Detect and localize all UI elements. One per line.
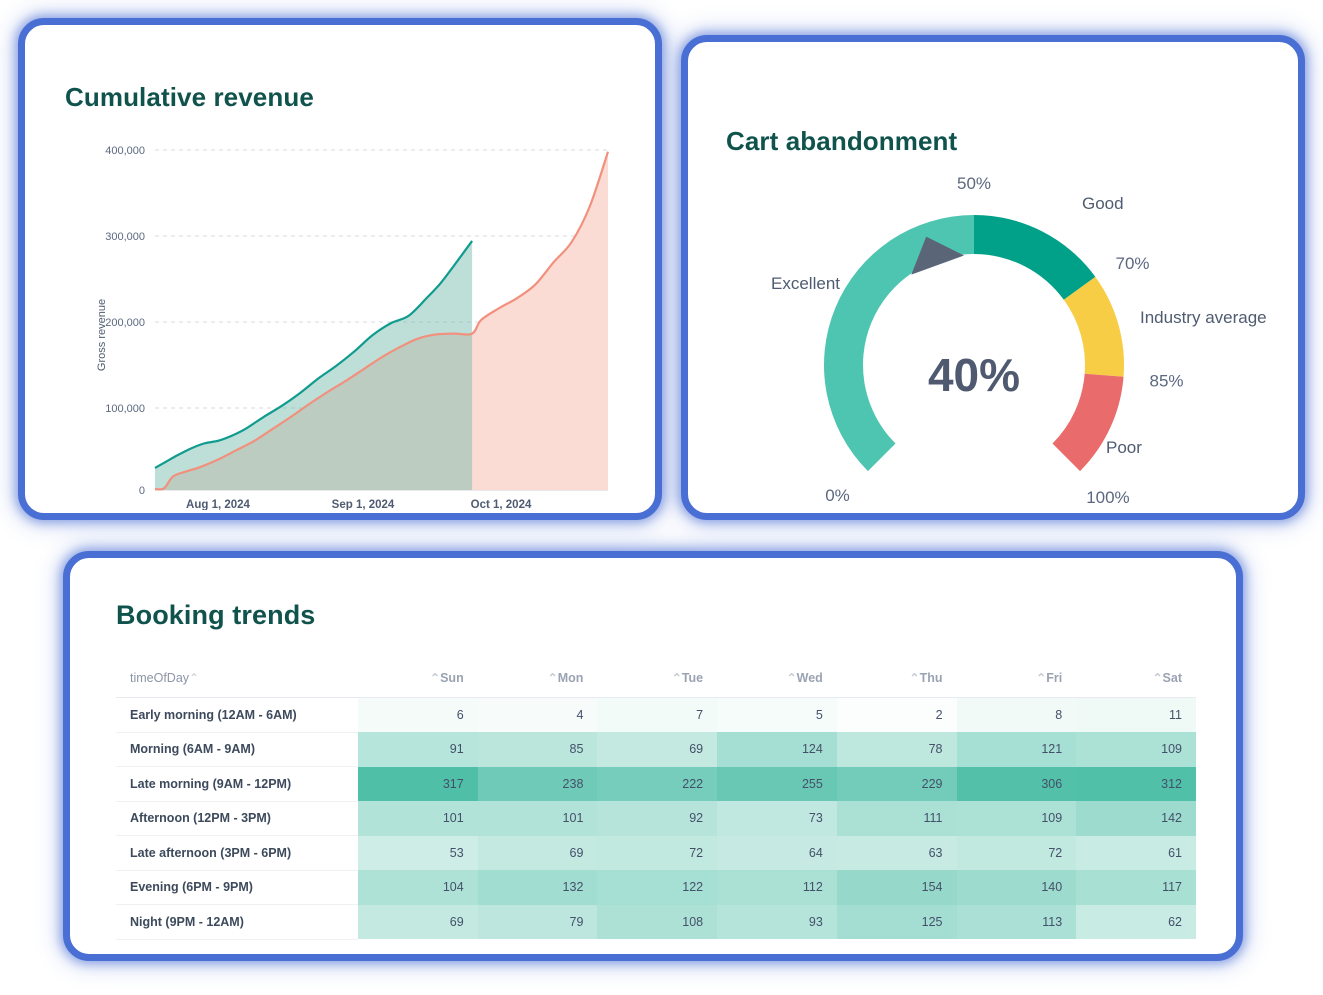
gauge-tick-70: 70% <box>1116 254 1150 273</box>
table-cell-tue: 108 <box>597 905 717 940</box>
table-header-thu-label: Thu <box>920 671 943 685</box>
gauge-zone-label-industry: Industry average <box>1140 308 1267 327</box>
table-header-timeofday-label: timeOfDay <box>130 671 189 685</box>
table-cell-fri: 109 <box>957 801 1077 836</box>
sort-ascending-icon: ⌃ <box>1152 671 1162 685</box>
y-tick: 0 <box>139 485 145 497</box>
table-cell-sat: 61 <box>1076 836 1196 871</box>
table-cell-thu: 2 <box>837 698 957 733</box>
table-cell-sun: 101 <box>358 801 478 836</box>
sort-ascending-icon: ⌃ <box>910 671 920 685</box>
table-cell-mon: 238 <box>478 767 598 802</box>
table-cell-wed: 112 <box>717 870 837 905</box>
table-cell-thu: 154 <box>837 870 957 905</box>
booking-trends-card: Booking trends timeOfDay ⌃⌃ Sun⌃ Mon⌃ Tu… <box>63 551 1243 961</box>
table-header-tue-label: Tue <box>682 671 703 685</box>
table-cell-sat: 62 <box>1076 905 1196 940</box>
x-tick: Sep 1, 2024 <box>332 499 395 510</box>
table-cell-fri: 72 <box>957 836 1077 871</box>
cumulative-revenue-card: Cumulative revenue 400,000 300,000 200,0… <box>18 18 662 520</box>
table-cell-tue: 92 <box>597 801 717 836</box>
table-cell-mon: 85 <box>478 732 598 767</box>
table-header-wed[interactable]: ⌃ Wed <box>717 651 837 698</box>
table-row: Morning (6AM - 9AM)91856912478121109 <box>116 732 1196 767</box>
table-header-sat-label: Sat <box>1163 671 1182 685</box>
sort-ascending-icon: ⌃ <box>430 671 440 685</box>
table-header-thu[interactable]: ⌃ Thu <box>837 651 957 698</box>
table-cell-thu: 111 <box>837 801 957 836</box>
table-cell-sun: 6 <box>358 698 478 733</box>
dashboard-stage: Cumulative revenue 400,000 300,000 200,0… <box>0 0 1323 995</box>
y-tick: 200,000 <box>105 317 145 329</box>
y-tick: 400,000 <box>105 145 145 157</box>
sort-ascending-icon: ⌃ <box>787 671 797 685</box>
table-header-mon[interactable]: ⌃ Mon <box>478 651 598 698</box>
y-axis-title: Gross revenue <box>96 299 108 371</box>
table-cell-tue: 222 <box>597 767 717 802</box>
table-cell-sat: 312 <box>1076 767 1196 802</box>
table-cell-fri: 113 <box>957 905 1077 940</box>
table-cell-sun: 69 <box>358 905 478 940</box>
table-body: Early morning (12AM - 6AM)64752811Mornin… <box>116 698 1196 940</box>
table-row: Night (9PM - 12AM)69791089312511362 <box>116 905 1196 940</box>
table-cell-thu: 125 <box>837 905 957 940</box>
table-row-label: Early morning (12AM - 6AM) <box>116 698 358 733</box>
table-cell-sat: 142 <box>1076 801 1196 836</box>
gauge-arc-zones <box>824 215 1124 471</box>
table-cell-sat: 109 <box>1076 732 1196 767</box>
table-cell-tue: 7 <box>597 698 717 733</box>
y-tick: 300,000 <box>105 231 145 243</box>
table-header-mon-label: Mon <box>558 671 584 685</box>
table-cell-fri: 121 <box>957 732 1077 767</box>
table-row-label: Night (9PM - 12AM) <box>116 905 358 940</box>
table-cell-tue: 72 <box>597 836 717 871</box>
table-header-sun-label: Sun <box>440 671 464 685</box>
sort-ascending-icon: ⌃ <box>189 671 199 685</box>
table-row-label: Afternoon (12PM - 3PM) <box>116 801 358 836</box>
table-header-timeofday[interactable]: timeOfDay ⌃ <box>116 651 358 698</box>
table-cell-wed: 255 <box>717 767 837 802</box>
x-tick: Oct 1, 2024 <box>471 499 532 510</box>
table-row: Evening (6PM - 9PM)104132122112154140117 <box>116 870 1196 905</box>
table-header-fri-label: Fri <box>1046 671 1062 685</box>
sort-ascending-icon: ⌃ <box>548 671 558 685</box>
table-cell-wed: 124 <box>717 732 837 767</box>
gauge-zone-label-excellent: Excellent <box>771 274 840 293</box>
table-cell-tue: 69 <box>597 732 717 767</box>
table-header-row: timeOfDay ⌃⌃ Sun⌃ Mon⌃ Tue⌃ Wed⌃ Thu⌃ Fr… <box>116 651 1196 698</box>
gauge-tick-0: 0% <box>825 486 850 505</box>
gauge-zone-good <box>974 215 1095 300</box>
table-row: Early morning (12AM - 6AM)64752811 <box>116 698 1196 733</box>
table-cell-sat: 11 <box>1076 698 1196 733</box>
table-cell-fri: 306 <box>957 767 1077 802</box>
sort-ascending-icon: ⌃ <box>672 671 682 685</box>
y-tick: 100,000 <box>105 403 145 415</box>
gauge-zone-label-good: Good <box>1082 194 1124 213</box>
gauge-tick-50: 50% <box>957 174 991 193</box>
table-cell-thu: 229 <box>837 767 957 802</box>
table-cell-sun: 317 <box>358 767 478 802</box>
table-cell-sun: 91 <box>358 732 478 767</box>
table-cell-wed: 73 <box>717 801 837 836</box>
booking-trends-table: timeOfDay ⌃⌃ Sun⌃ Mon⌃ Tue⌃ Wed⌃ Thu⌃ Fr… <box>116 651 1196 940</box>
table-row-label: Morning (6AM - 9AM) <box>116 732 358 767</box>
x-axis-ticks: Aug 1, 2024 Sep 1, 2024 Oct 1, 2024 <box>186 499 532 510</box>
table-cell-tue: 122 <box>597 870 717 905</box>
table-cell-mon: 4 <box>478 698 598 733</box>
table-header: timeOfDay ⌃⌃ Sun⌃ Mon⌃ Tue⌃ Wed⌃ Thu⌃ Fr… <box>116 651 1196 698</box>
table-cell-thu: 78 <box>837 732 957 767</box>
table-cell-mon: 69 <box>478 836 598 871</box>
table-cell-wed: 5 <box>717 698 837 733</box>
table-header-fri[interactable]: ⌃ Fri <box>957 651 1077 698</box>
gauge-tick-85: 85% <box>1150 371 1184 390</box>
table-cell-wed: 64 <box>717 836 837 871</box>
table-cell-wed: 93 <box>717 905 837 940</box>
table-cell-mon: 101 <box>478 801 598 836</box>
gauge-value-label: 40% <box>928 349 1020 401</box>
cart-abandonment-card: Cart abandonment 0% 50% 70% 85% 100% Exc… <box>681 35 1305 520</box>
table-cell-mon: 132 <box>478 870 598 905</box>
table-row-label: Late morning (9AM - 12PM) <box>116 767 358 802</box>
cumulative-revenue-chart: 400,000 300,000 200,000 100,000 0 Gross … <box>35 120 655 510</box>
x-tick: Aug 1, 2024 <box>186 499 251 510</box>
table-cell-mon: 79 <box>478 905 598 940</box>
table-cell-fri: 140 <box>957 870 1077 905</box>
table-row-label: Evening (6PM - 9PM) <box>116 870 358 905</box>
table-row: Late morning (9AM - 12PM)317238222255229… <box>116 767 1196 802</box>
table-row: Late afternoon (3PM - 6PM)53697264637261 <box>116 836 1196 871</box>
table-cell-sun: 53 <box>358 836 478 871</box>
sort-ascending-icon: ⌃ <box>1036 671 1046 685</box>
gauge-tick-100: 100% <box>1086 488 1129 507</box>
table-header-sun[interactable]: ⌃ Sun <box>358 651 478 698</box>
table-header-wed-label: Wed <box>797 671 823 685</box>
table-row-label: Late afternoon (3PM - 6PM) <box>116 836 358 871</box>
y-axis-ticks: 400,000 300,000 200,000 100,000 0 <box>105 145 145 497</box>
table-cell-thu: 63 <box>837 836 957 871</box>
table-cell-sun: 104 <box>358 870 478 905</box>
table-row: Afternoon (12PM - 3PM)101101927311110914… <box>116 801 1196 836</box>
cart-abandonment-gauge: 0% 50% 70% 85% 100% Excellent Good Indus… <box>688 137 1300 517</box>
gauge-zone-label-poor: Poor <box>1106 438 1142 457</box>
table-cell-fri: 8 <box>957 698 1077 733</box>
table-header-tue[interactable]: ⌃ Tue <box>597 651 717 698</box>
page-title-cumulative-revenue: Cumulative revenue <box>65 82 314 113</box>
area-series-previous <box>155 241 472 490</box>
table-cell-sat: 117 <box>1076 870 1196 905</box>
table-header-sat[interactable]: ⌃ Sat <box>1076 651 1196 698</box>
page-title-booking-trends: Booking trends <box>116 600 315 631</box>
